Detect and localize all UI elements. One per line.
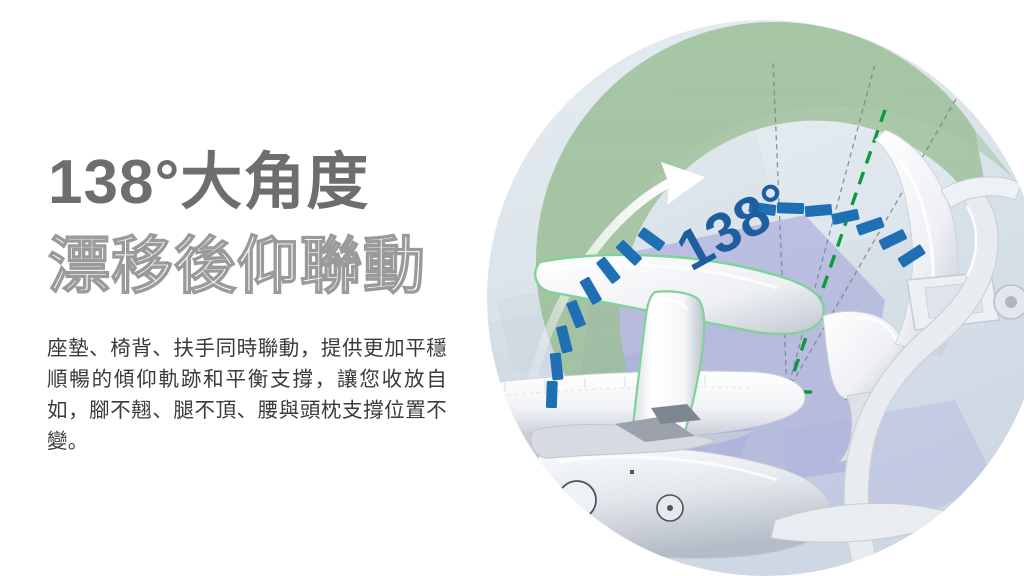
headline-primary: 138°大角度 [48, 152, 369, 214]
headline-secondary-outline: 漂移後仰聯動 [48, 236, 426, 298]
text-panel: 138°大角度 漂移後仰聯動 座墊、椅背、扶手同時聯動，提供更加平穩順暢的傾仰軌… [0, 0, 470, 576]
body-paragraph: 座墊、椅背、扶手同時聯動，提供更加平穩順暢的傾仰軌跡和平衡支撐，讓您收放自如，腳… [47, 333, 447, 458]
chair-tilt-illustration: 138° [455, 0, 1024, 576]
promo-banner: 138°大角度 漂移後仰聯動 座墊、椅背、扶手同時聯動，提供更加平穩順暢的傾仰軌… [0, 0, 1024, 576]
